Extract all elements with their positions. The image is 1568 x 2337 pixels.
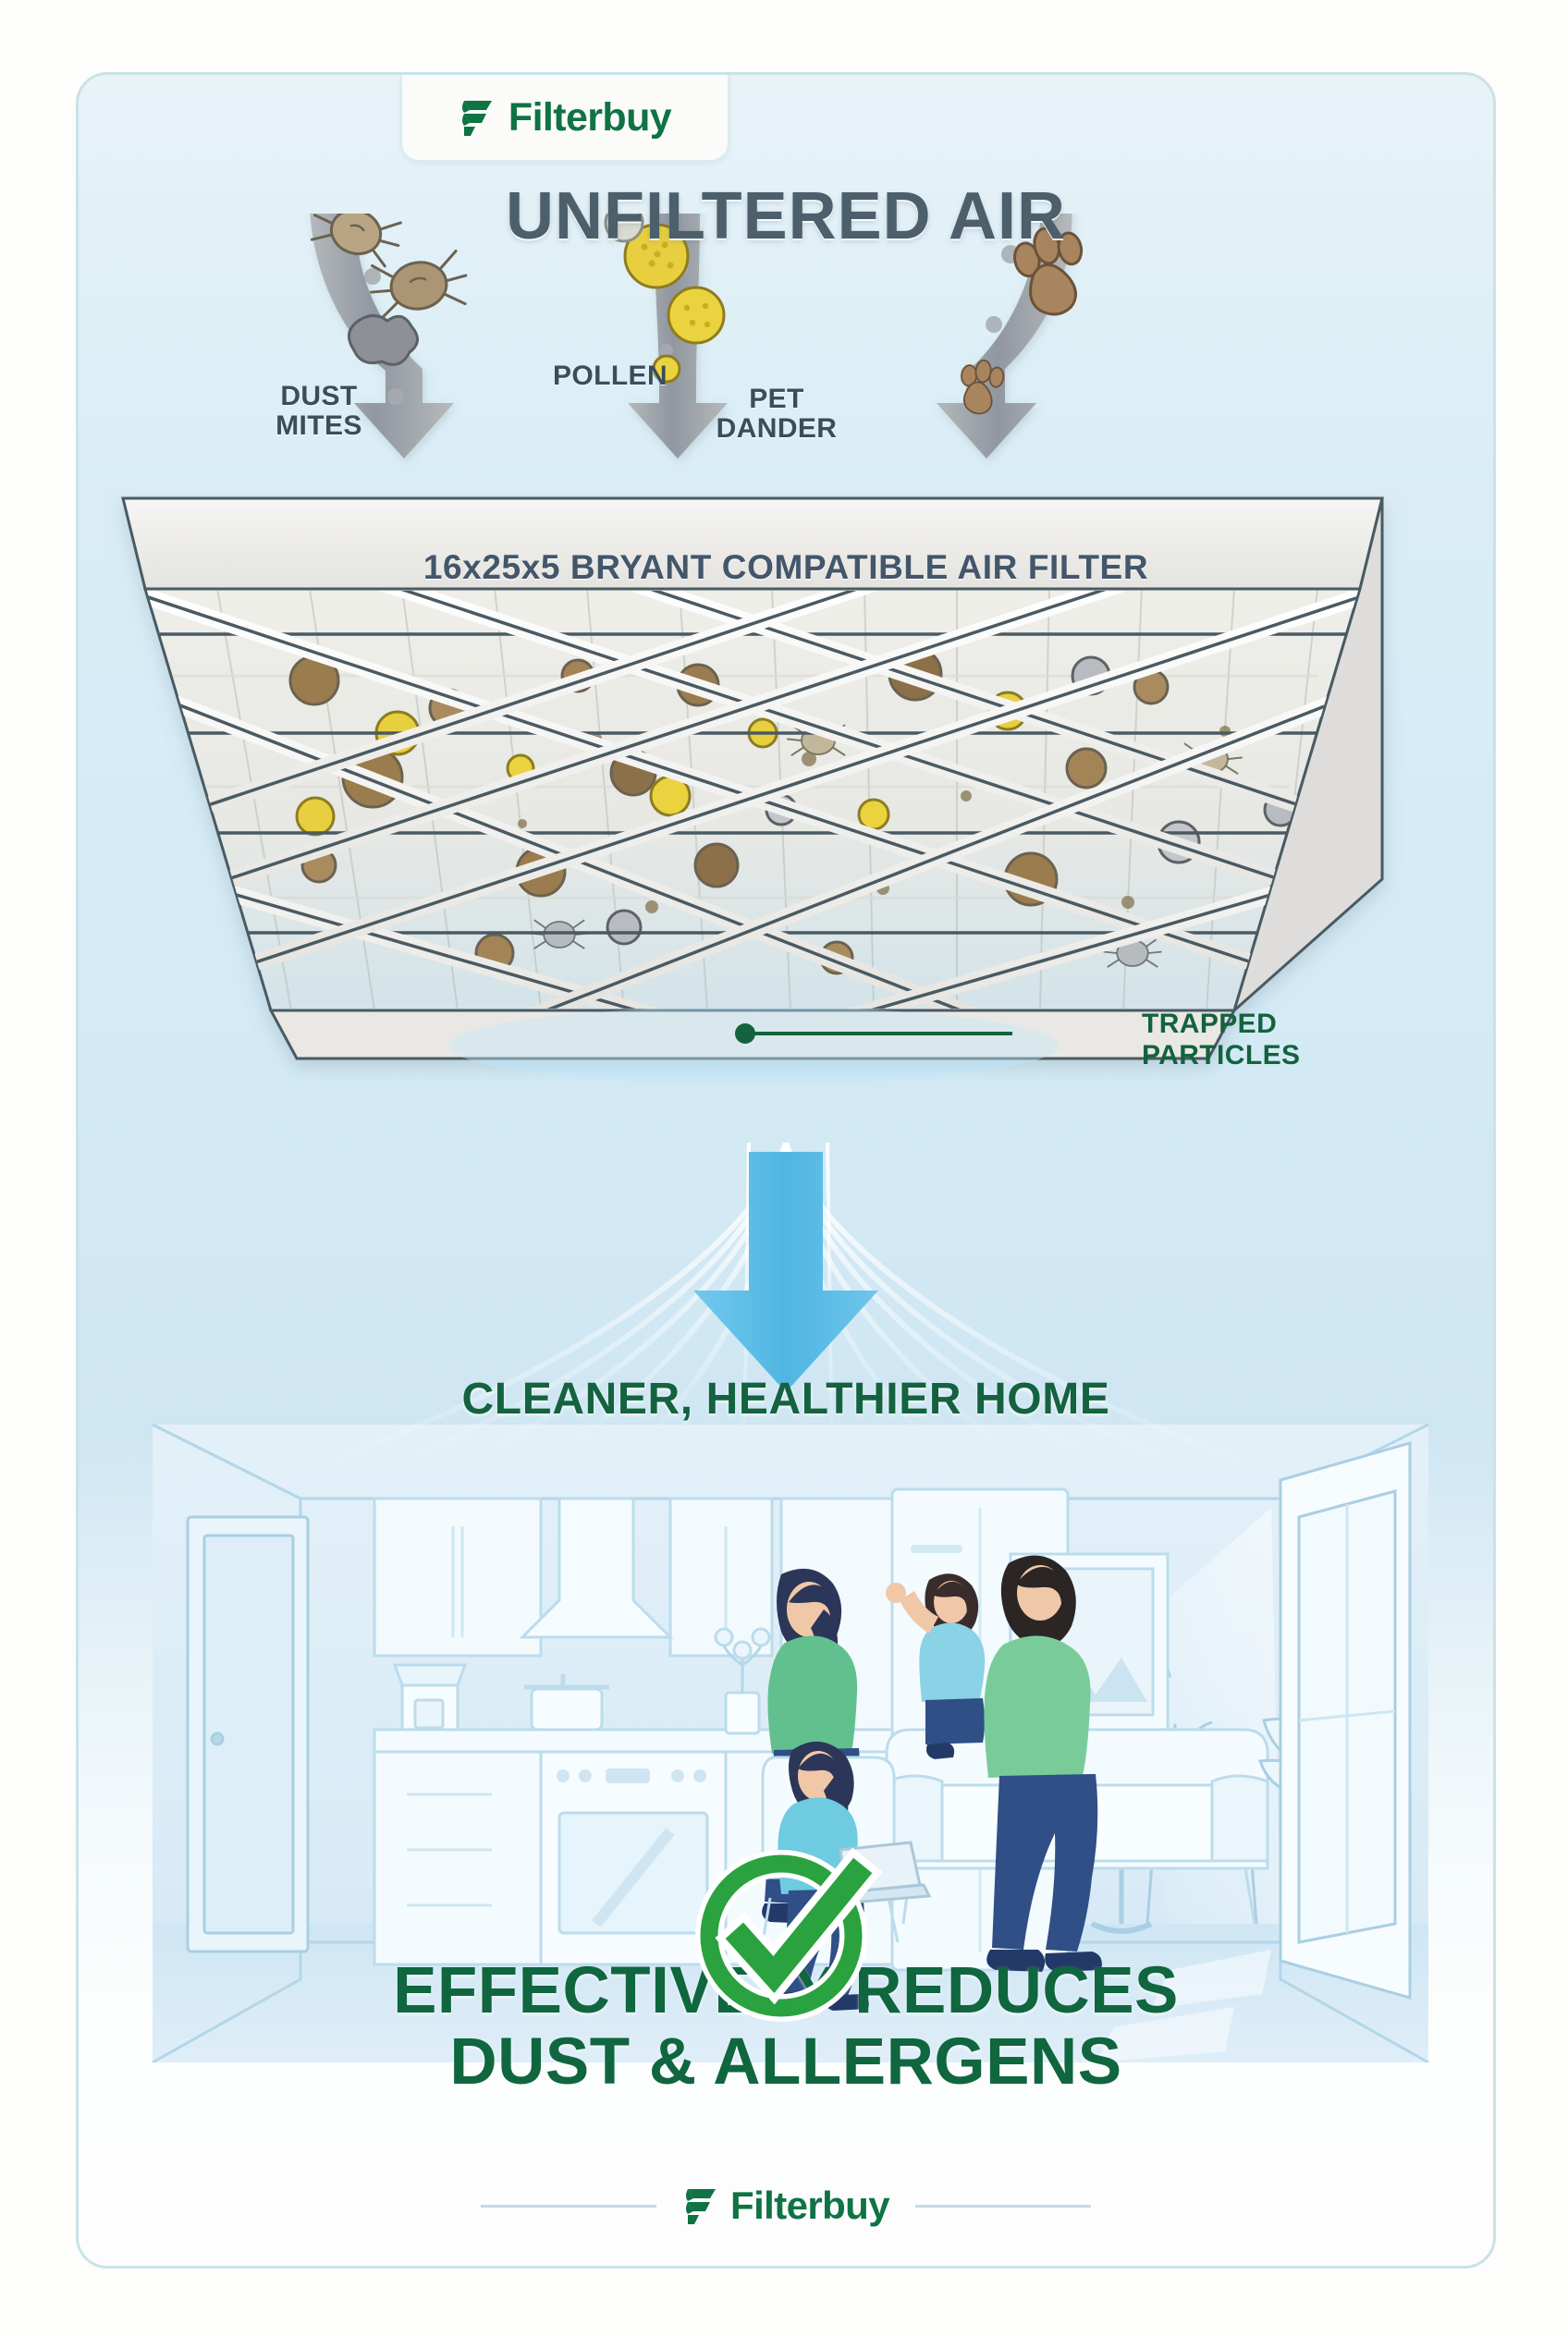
footer-rule-right (915, 2205, 1091, 2208)
callout-dot-icon (735, 1023, 755, 1044)
footer: Filterbuy (79, 2155, 1493, 2257)
door-icon (188, 1517, 308, 1952)
filterbuy-f-logo-icon (682, 2185, 719, 2226)
footer-logo-label: Filterbuy (730, 2186, 889, 2225)
dirty-air-arrows-svg (79, 214, 1493, 500)
coffee-maker (395, 1665, 465, 1730)
contaminant-label-dust-mites: DUST MITES (240, 382, 398, 440)
air-filter-illustration: 16x25x5 BRYANT COMPATIBLE AIR FILTER TRA… (79, 491, 1493, 1138)
callout-leader-line (753, 1032, 1012, 1035)
header-logo[interactable]: Filterbuy (400, 75, 729, 162)
callout-line-1: TRAPPED (1142, 1009, 1300, 1040)
infographic-card: Filterbuy UNFILTERED AIR (76, 72, 1496, 2269)
green-check-circle-icon (689, 1836, 883, 2031)
page-title: UNFILTERED AIR (79, 178, 1493, 254)
contaminant-label-pollen: POLLEN (518, 361, 703, 391)
trapped-particles-callout: TRAPPED PARTICLES (1142, 1009, 1300, 1071)
unfiltered-air-illustration: DUST MITES POLLEN PET DANDER (79, 214, 1493, 500)
footer-logo[interactable]: Filterbuy (682, 2185, 889, 2226)
clean-air-svg (139, 1143, 1433, 1531)
clean-home-title: CLEANER, HEALTHIER HOME (79, 1374, 1493, 1425)
filter-label: 16x25x5 BRYANT COMPATIBLE AIR FILTER (79, 548, 1493, 587)
footer-rule-left (481, 2205, 656, 2208)
bottom-headline-line-2: DUST & ALLERGENS (79, 2027, 1493, 2098)
clean-air-flow (139, 1143, 1433, 1536)
callout-line-2: PARTICLES (1142, 1040, 1300, 1071)
header-logo-label: Filterbuy (508, 98, 671, 138)
dust-clump-icon (349, 315, 417, 364)
contaminant-label-pet-dander: PET DANDER (689, 385, 864, 443)
filterbuy-f-logo-icon (459, 97, 496, 138)
